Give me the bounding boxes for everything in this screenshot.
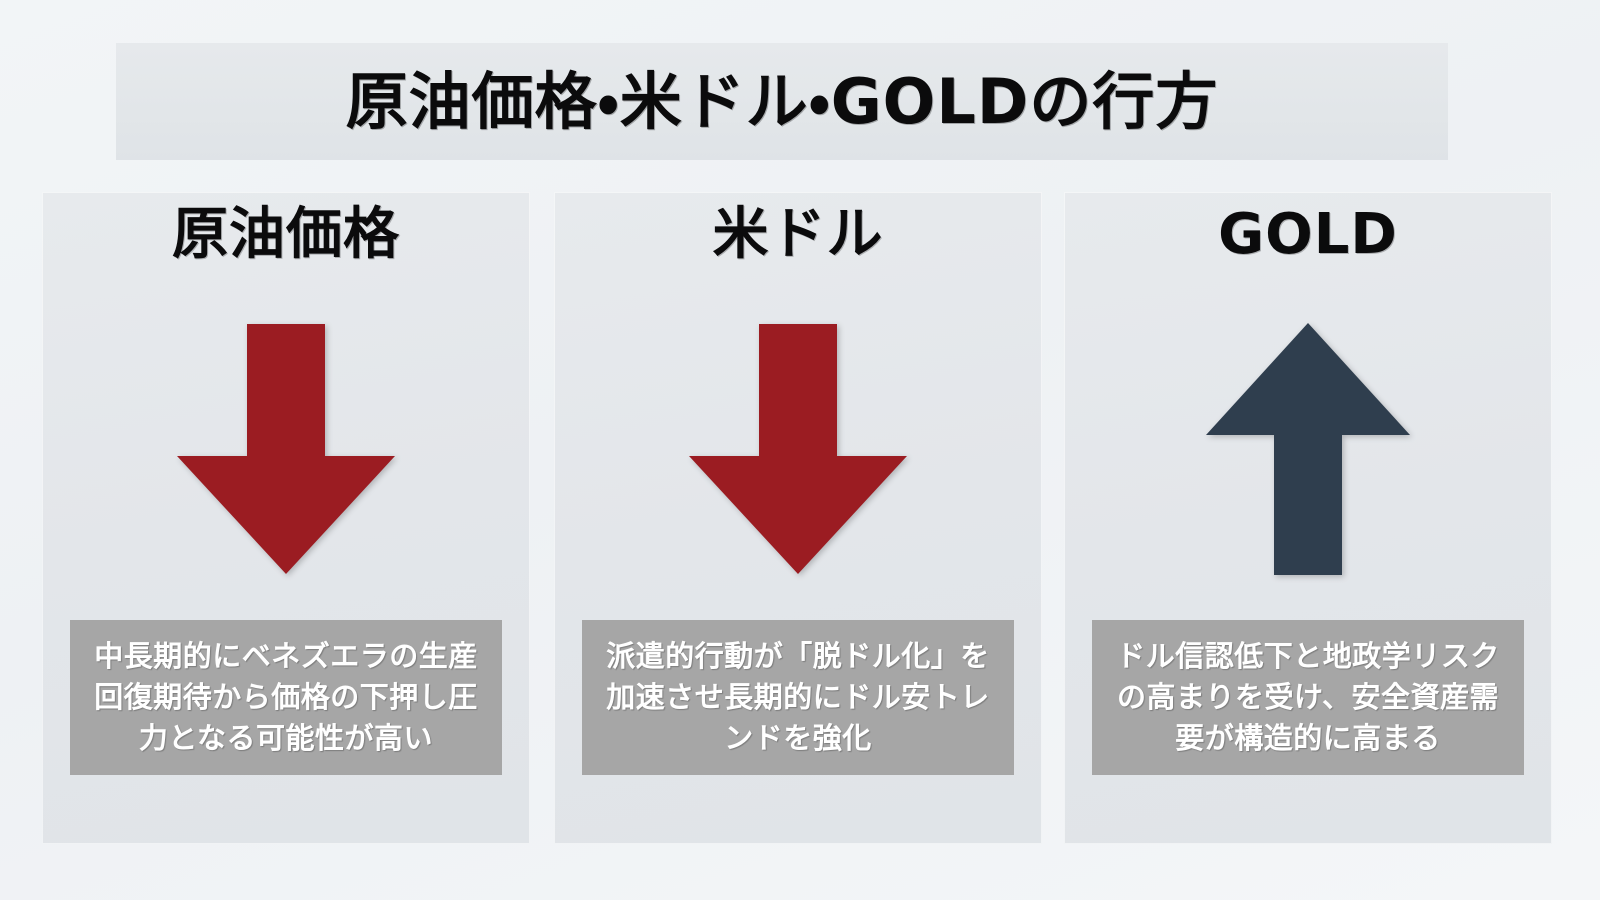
arrow-down-icon xyxy=(689,324,907,574)
card-title-crude-oil: 原油価格 xyxy=(42,204,530,266)
arrow-up-icon xyxy=(1206,323,1410,575)
card-title-us-dollar: 米ドル xyxy=(554,204,1042,266)
caption-box-crude-oil: 中長期的にベネズエラの生産回復期待から価格の下押し圧力となる可能性が高い xyxy=(70,620,502,775)
card-title-gold: GOLD xyxy=(1064,204,1552,266)
arrow-area-gold xyxy=(1064,314,1552,584)
card-gold: GOLD ドル信認低下と地政学リスクの高まりを受け、安全資産需要が構造的に高まる xyxy=(1064,192,1552,844)
caption-text-gold: ドル信認低下と地政学リスクの高まりを受け、安全資産需要が構造的に高まる xyxy=(1106,636,1510,760)
title-banner: 原油価格・米ドル・GOLDの行方 xyxy=(116,43,1448,160)
caption-box-gold: ドル信認低下と地政学リスクの高まりを受け、安全資産需要が構造的に高まる xyxy=(1092,620,1524,775)
page-title: 原油価格・米ドル・GOLDの行方 xyxy=(346,71,1219,133)
cards-row: 原油価格 中長期的にベネズエラの生産回復期待から価格の下押し圧力となる可能性が高… xyxy=(0,192,1600,852)
caption-text-crude-oil: 中長期的にベネズエラの生産回復期待から価格の下押し圧力となる可能性が高い xyxy=(84,636,488,760)
caption-text-us-dollar: 派遣的行動が「脱ドル化」を加速させ長期的にドル安トレンドを強化 xyxy=(596,636,1000,760)
arrow-down-icon xyxy=(177,324,395,574)
card-crude-oil: 原油価格 中長期的にベネズエラの生産回復期待から価格の下押し圧力となる可能性が高… xyxy=(42,192,530,844)
slide-root: 原油価格・米ドル・GOLDの行方 原油価格 中長期的にベネズエラの生産回復期待か… xyxy=(0,0,1600,900)
card-us-dollar: 米ドル 派遣的行動が「脱ドル化」を加速させ長期的にドル安トレンドを強化 xyxy=(554,192,1042,844)
arrow-area-us-dollar xyxy=(554,314,1042,584)
caption-box-us-dollar: 派遣的行動が「脱ドル化」を加速させ長期的にドル安トレンドを強化 xyxy=(582,620,1014,775)
arrow-area-crude-oil xyxy=(42,314,530,584)
